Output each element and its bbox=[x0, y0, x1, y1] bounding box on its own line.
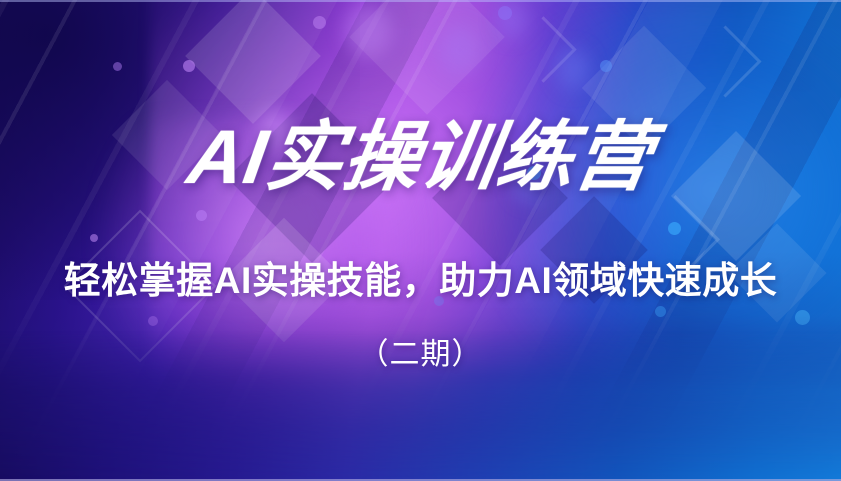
soft-blob bbox=[345, 4, 391, 58]
diamond-shape bbox=[582, 26, 706, 150]
bottom-gradient-band bbox=[0, 331, 841, 481]
accent-dot bbox=[527, 166, 541, 180]
accent-dot bbox=[434, 296, 444, 306]
top-edge-line bbox=[0, 0, 841, 2]
banner-phase-label: （二期） bbox=[0, 340, 841, 370]
diamond-shape bbox=[671, 131, 801, 261]
diamond-shape bbox=[349, 0, 505, 115]
diamond-shape bbox=[185, 0, 321, 124]
soft-blob bbox=[556, 48, 590, 90]
accent-dot bbox=[90, 234, 98, 242]
accent-dot bbox=[113, 62, 122, 71]
accent-dot bbox=[498, 6, 512, 20]
bottom-fade-overlay bbox=[0, 251, 841, 481]
accent-dot bbox=[655, 306, 666, 317]
diamond-shape bbox=[222, 218, 346, 342]
diamond-outline-shape bbox=[64, 210, 217, 363]
dark-diagonal-bands bbox=[0, 0, 841, 481]
diamond-shape bbox=[227, 93, 397, 263]
magenta-glow bbox=[95, 120, 425, 420]
banner-headline: AI实操训练营 bbox=[0, 120, 841, 196]
wide-diagonal-bands bbox=[0, 0, 841, 481]
promo-banner: AI实操训练营 轻松掌握AI实操技能，助力AI领域快速成长 （二期） bbox=[0, 0, 841, 481]
accent-dot bbox=[183, 60, 195, 72]
purple-glow bbox=[150, 0, 670, 370]
soft-blob bbox=[497, 2, 527, 38]
soft-blob bbox=[258, 108, 292, 152]
corner-vignette bbox=[0, 0, 360, 300]
banner-content: AI实操训练营 轻松掌握AI实操技能，助力AI领域快速成长 （二期） bbox=[0, 0, 841, 481]
accent-dot bbox=[148, 316, 158, 326]
thin-diagonal-streaks bbox=[0, 0, 841, 481]
chevron-icon bbox=[631, 195, 720, 284]
accent-dot bbox=[795, 310, 810, 325]
diamond-shape bbox=[728, 224, 827, 323]
diamond-shape bbox=[112, 80, 222, 190]
accent-dot bbox=[668, 222, 681, 235]
diamond-shape bbox=[432, 130, 568, 266]
accent-dot bbox=[313, 16, 326, 29]
accent-dot bbox=[196, 210, 207, 221]
chevron-icon bbox=[510, 16, 576, 82]
diamond-shape bbox=[540, 196, 647, 303]
chevron-icon bbox=[689, 25, 761, 97]
blue-glow bbox=[481, 10, 841, 410]
soft-blob bbox=[512, 162, 546, 202]
banner-subtitle: 轻松掌握AI实操技能，助力AI领域快速成长 bbox=[0, 262, 841, 299]
accent-dot bbox=[600, 60, 612, 72]
background-artwork bbox=[0, 0, 841, 481]
soft-blob bbox=[440, 26, 480, 74]
